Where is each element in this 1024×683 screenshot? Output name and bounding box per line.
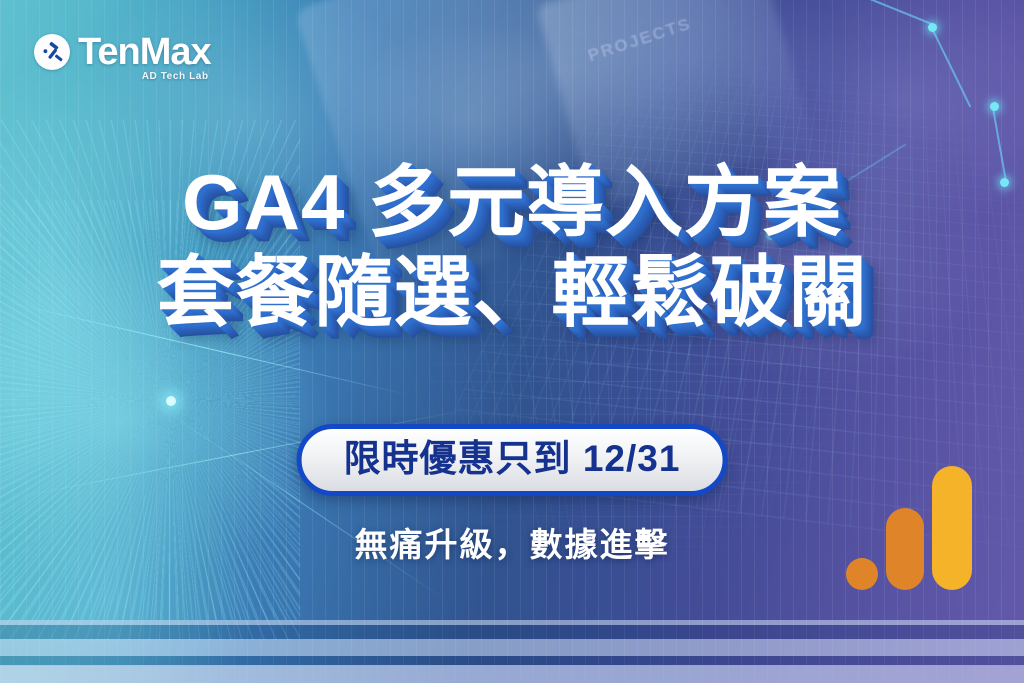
ga-logo-mid-bar (886, 508, 924, 590)
brand-wordmark: TenMax AD Tech Lab (78, 33, 211, 71)
constellation-node (990, 102, 999, 111)
background-light-hotspot (166, 396, 176, 406)
ga-logo-tall-bar (932, 466, 972, 590)
bottom-band-light (0, 639, 1024, 656)
headline-block: GA4 多元導入方案 套餐隨選、輕鬆破關 (0, 160, 1024, 336)
bottom-band-base (0, 665, 1024, 683)
constellation-node (928, 23, 937, 32)
brand-logo[interactable]: TenMax AD Tech Lab (34, 33, 211, 71)
ga-logo-dot (846, 558, 878, 590)
brand-name: TenMax (78, 33, 211, 71)
google-analytics-logo (862, 466, 972, 590)
promo-badge-label: 限時優惠只到 12/31 (344, 440, 681, 477)
headline-line-1: GA4 多元導入方案 (0, 160, 1024, 246)
brand-tagline: AD Tech Lab (142, 71, 209, 82)
bottom-band-dark (0, 625, 1024, 639)
headline-line-2: 套餐隨選、輕鬆破關 (0, 250, 1024, 336)
gavel-in-circle-icon (34, 34, 70, 70)
promotional-banner: PROJECTS TenMax (0, 0, 1024, 683)
promo-badge[interactable]: 限時優惠只到 12/31 (297, 424, 728, 496)
